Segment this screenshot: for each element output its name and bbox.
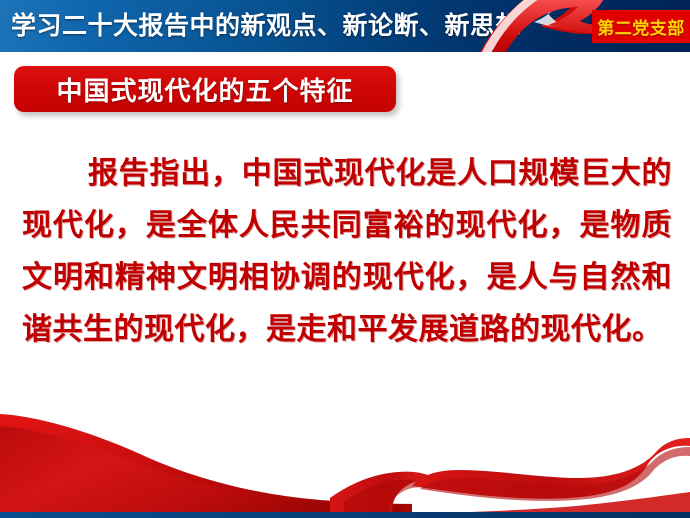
body-paragraph: 报告指出，中国式现代化是人口规模巨大的现代化，是全体人民共同富裕的现代化，是物质… [22, 148, 672, 356]
party-branch-badge: 第二党支部 [592, 10, 690, 43]
section-title-label: 中国式现代化的五个特征 [56, 71, 353, 108]
bottom-rule [0, 512, 690, 518]
red-ribbon-swoosh-icon [466, 0, 606, 52]
party-branch-badge-label: 第二党支部 [597, 14, 685, 39]
red-silk-ribbon-icon [0, 400, 690, 512]
header-bar: 学习二十大报告中的新观点、新论断、新思想 [0, 0, 690, 52]
header-title: 学习二十大报告中的新观点、新论断、新思想 [11, 9, 481, 43]
section-title-banner: 中国式现代化的五个特征 [14, 66, 396, 112]
section-title-pill: 中国式现代化的五个特征 [14, 66, 396, 112]
slide-canvas: 学习二十大报告中的新观点、新论断、新思想 [0, 0, 690, 518]
